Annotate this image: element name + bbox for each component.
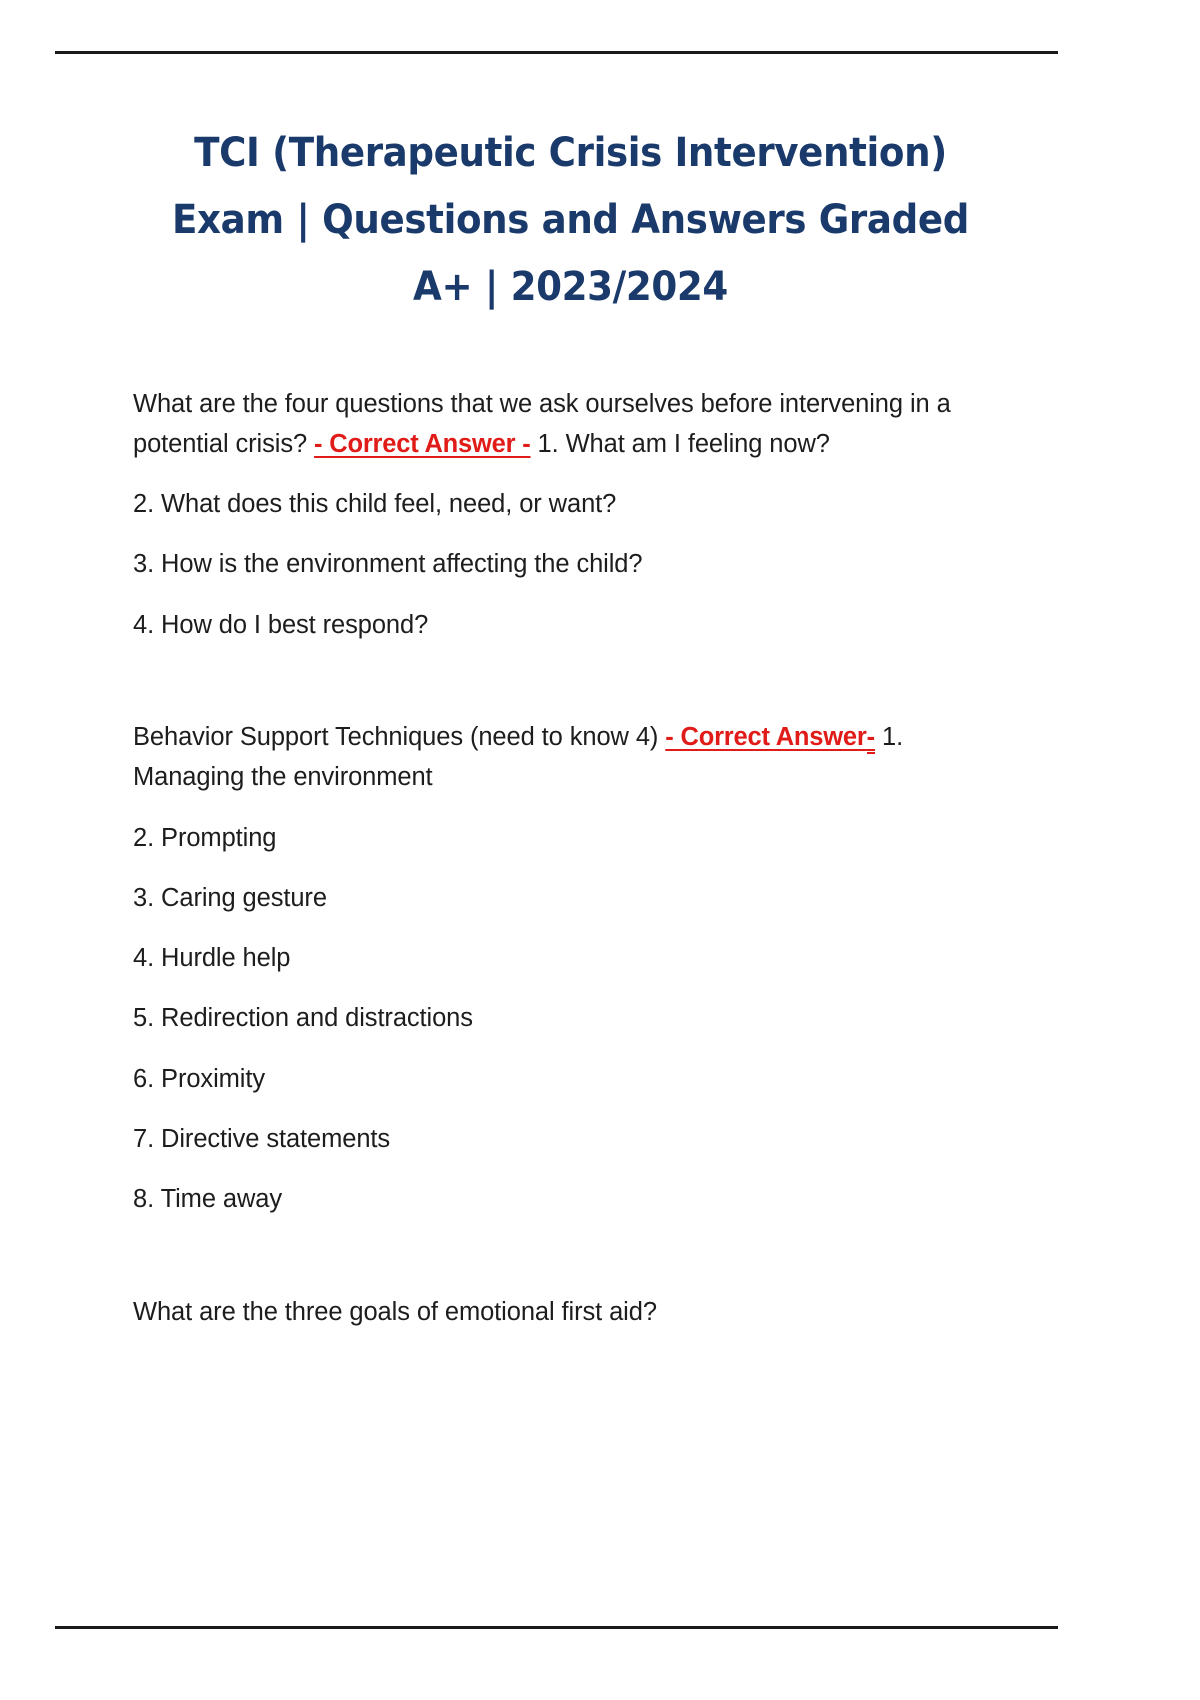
spacer-2f xyxy=(133,1099,1008,1119)
spacer-2a xyxy=(133,798,1008,818)
question-1-answer-start: 1. What am I feeling now? xyxy=(531,430,830,458)
spacer-title-body xyxy=(133,322,1008,384)
correct-answer-marker-1: - Correct Answer - xyxy=(314,430,531,458)
spacer-2d xyxy=(133,978,1008,998)
question-block-2: Behavior Support Techniques (need to kno… xyxy=(133,717,1008,798)
spacer-1c xyxy=(133,585,1008,605)
list-item: 2. What does this child feel, need, or w… xyxy=(133,484,1008,524)
list-item: 3. How is the environment affecting the … xyxy=(133,544,1008,584)
page-bottom-rule xyxy=(55,1626,1058,1629)
spacer-section-1-2 xyxy=(133,645,1008,717)
list-item: 3. Caring gesture xyxy=(133,878,1008,918)
spacer-2e xyxy=(133,1039,1008,1059)
list-item: 6. Proximity xyxy=(133,1059,1008,1099)
list-item: 4. Hurdle help xyxy=(133,938,1008,978)
spacer-section-2-3 xyxy=(133,1220,1008,1292)
question-2-text: Behavior Support Techniques (need to kno… xyxy=(133,723,665,751)
list-item: 8. Time away xyxy=(133,1179,1008,1219)
correct-answer-marker-2-tail: - xyxy=(867,723,875,754)
question-block-3: What are the three goals of emotional fi… xyxy=(133,1292,1008,1332)
list-item: 7. Directive statements xyxy=(133,1119,1008,1159)
correct-answer-marker-2: - Correct Answer xyxy=(665,723,866,751)
list-item: 5. Redirection and distractions xyxy=(133,998,1008,1038)
list-item: 4. How do I best respond? xyxy=(133,605,1008,645)
document-content: TCI (Therapeutic Crisis Intervention) Ex… xyxy=(133,120,1008,1332)
spacer-1a xyxy=(133,464,1008,484)
list-item: 2. Prompting xyxy=(133,818,1008,858)
question-block-1: What are the four questions that we ask … xyxy=(133,384,1008,465)
spacer-2b xyxy=(133,858,1008,878)
page-title: TCI (Therapeutic Crisis Intervention) Ex… xyxy=(164,120,978,322)
spacer-2c xyxy=(133,918,1008,938)
page-top-rule xyxy=(55,51,1058,54)
spacer-1b xyxy=(133,524,1008,544)
document-page: TCI (Therapeutic Crisis Intervention) Ex… xyxy=(0,0,1200,1700)
spacer-2g xyxy=(133,1159,1008,1179)
